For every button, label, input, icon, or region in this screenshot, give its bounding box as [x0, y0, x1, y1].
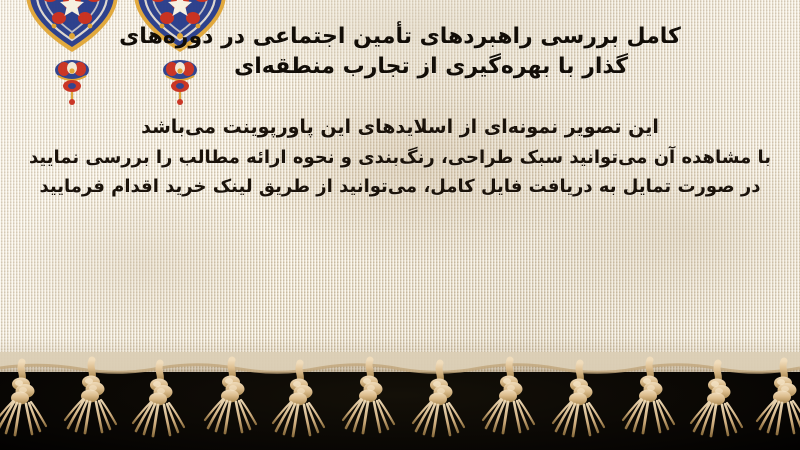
slide-canvas: کامل بررسی راهبردهای تأمین اجتماعی در دو… [0, 0, 800, 450]
slide-title: کامل بررسی راهبردهای تأمین اجتماعی در دو… [20, 22, 780, 83]
title-line-1: کامل بررسی راهبردهای تأمین اجتماعی در دو… [20, 22, 780, 52]
title-line-2: گذار با بهره‌گیری از تجارب منطقه‌ای [20, 52, 780, 82]
body-line-1: این تصویر نمونه‌ای از اسلایدهای این پاور… [20, 112, 780, 143]
black-lower-band [0, 372, 800, 450]
body-line-2: با مشاهده آن می‌توانید سبک طراحی، رنگ‌بن… [20, 143, 780, 172]
body-line-3: در صورت تمایل به دریافت فایل کامل، می‌تو… [20, 172, 780, 201]
slide-body: این تصویر نمونه‌ای از اسلایدهای این پاور… [20, 112, 780, 201]
slide-text-block: کامل بررسی راهبردهای تأمین اجتماعی در دو… [0, 0, 800, 378]
